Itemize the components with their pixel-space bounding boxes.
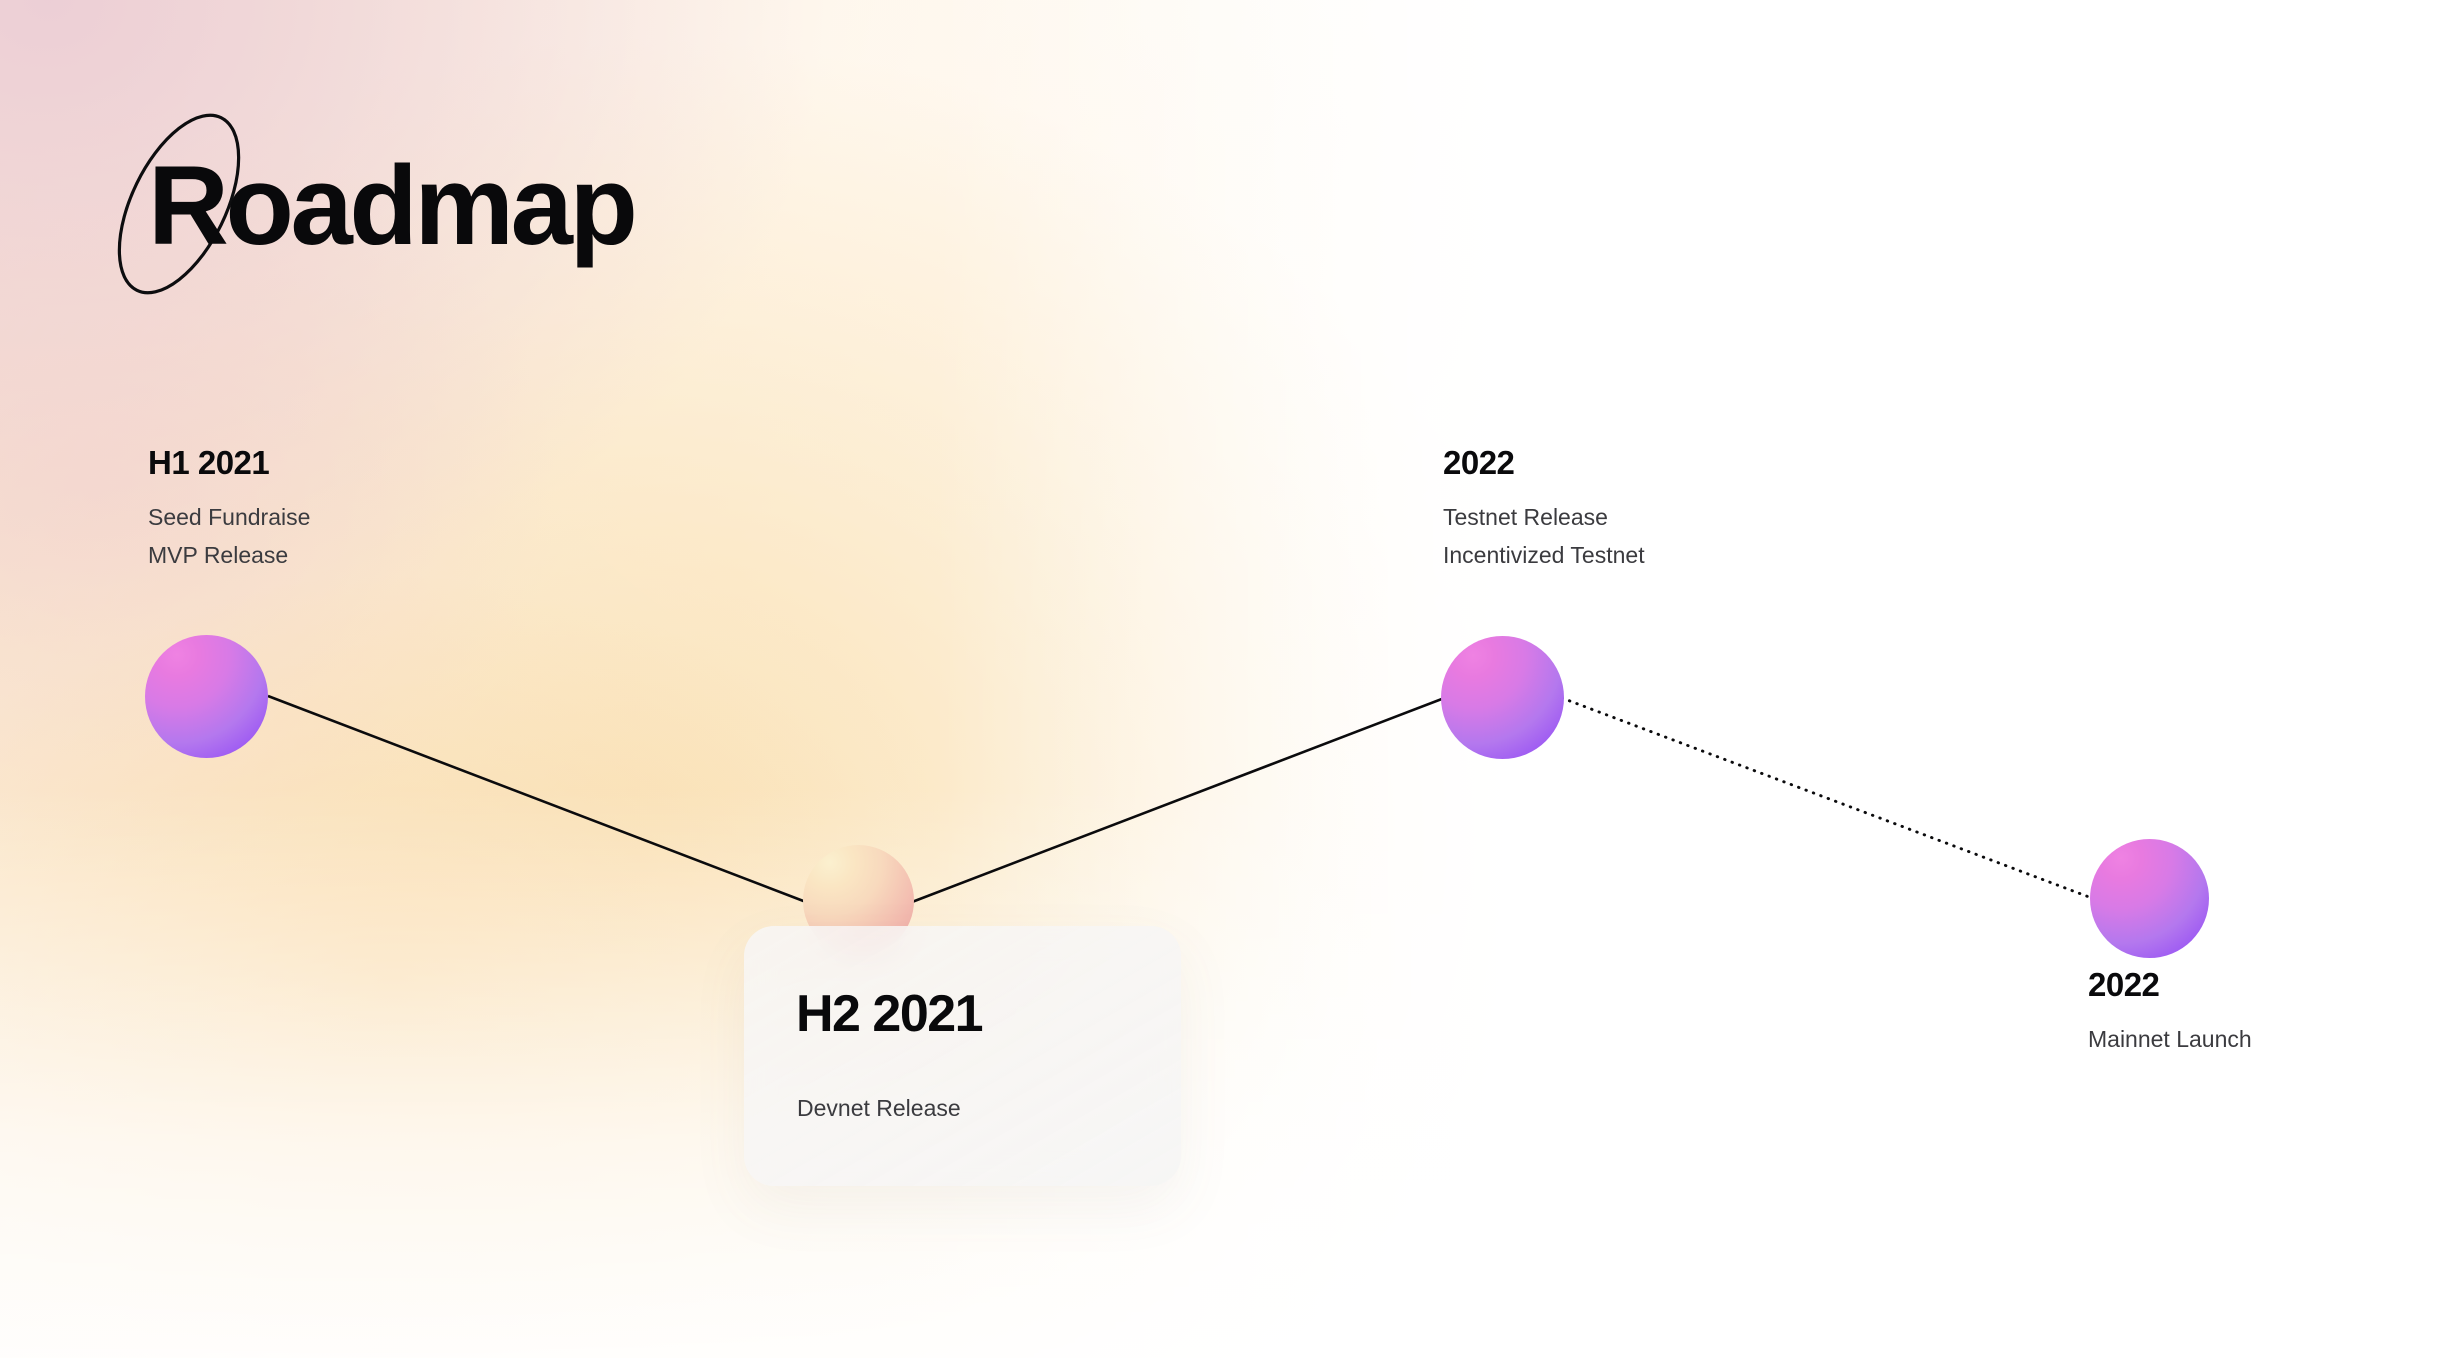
milestone-items: Mainnet Launch xyxy=(2088,1020,2252,1058)
milestone-item: Seed Fundraise xyxy=(148,498,310,536)
page-title-block: Roadmap xyxy=(148,150,635,262)
milestone-year: 2022 xyxy=(1443,446,1645,481)
milestone-items: Testnet Release Incentivized Testnet xyxy=(1443,498,1645,575)
milestone-card-h2-2021[interactable]: H2 2021 Devnet Release xyxy=(744,926,1181,1186)
milestone-item: Devnet Release xyxy=(797,1092,961,1124)
milestone-year: H1 2021 xyxy=(148,446,310,481)
milestone-node-h1-2021[interactable] xyxy=(145,635,268,758)
milestone-items: Seed Fundraise MVP Release xyxy=(148,498,310,575)
milestone-2022-mainnet-label: 2022 Mainnet Launch xyxy=(2088,968,2252,1058)
connector-h2-to-testnet xyxy=(912,697,1447,902)
milestone-item: Mainnet Launch xyxy=(2088,1020,2252,1058)
milestone-2022-testnet-label: 2022 Testnet Release Incentivized Testne… xyxy=(1443,446,1645,574)
milestone-h1-2021-label: H1 2021 Seed Fundraise MVP Release xyxy=(148,446,310,574)
milestone-year: H2 2021 xyxy=(796,988,982,1040)
connector-h1-to-h2 xyxy=(268,696,806,902)
milestone-item: Incentivized Testnet xyxy=(1443,536,1645,574)
milestone-node-2022-mainnet[interactable] xyxy=(2090,839,2209,958)
milestone-item: MVP Release xyxy=(148,536,310,574)
connector-testnet-to-mainnet xyxy=(1562,698,2097,900)
milestone-node-2022-testnet[interactable] xyxy=(1441,636,1564,759)
milestone-item: Testnet Release xyxy=(1443,498,1645,536)
page-title: Roadmap xyxy=(148,150,635,262)
milestone-year: 2022 xyxy=(2088,968,2252,1003)
roadmap-canvas: Roadmap H1 2021 Seed Fundraise MVP Relea… xyxy=(0,0,2458,1358)
